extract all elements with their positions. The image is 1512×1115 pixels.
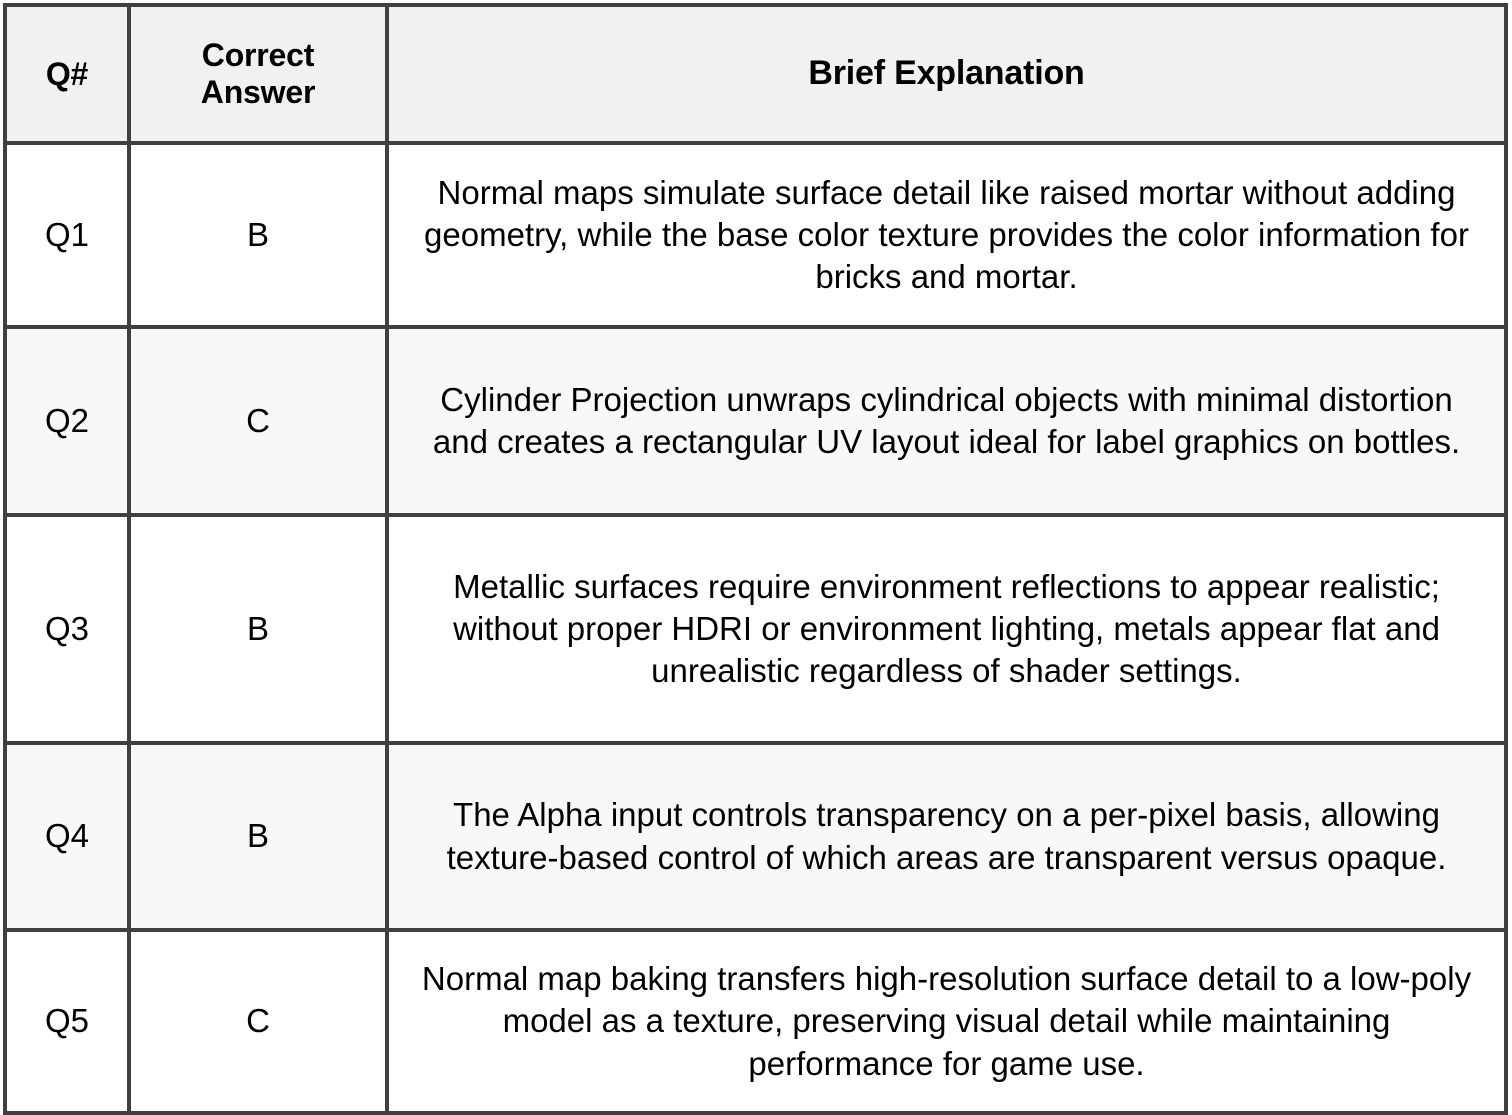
column-header-correct-answer-line1: Correct	[202, 37, 314, 73]
table-body: Q1 B Normal maps simulate surface detail…	[5, 143, 1506, 1113]
table-row: Q1 B Normal maps simulate surface detail…	[5, 143, 1506, 327]
cell-question-number: Q2	[5, 327, 129, 515]
column-header-question-number: Q#	[5, 5, 129, 143]
cell-question-number: Q3	[5, 515, 129, 743]
cell-question-number: Q4	[5, 743, 129, 930]
cell-correct-answer: C	[129, 930, 387, 1113]
cell-correct-answer: B	[129, 743, 387, 930]
page-root: Q# CorrectAnswer Brief Explanation Q1 B …	[0, 0, 1512, 1113]
cell-question-number: Q5	[5, 930, 129, 1113]
column-header-brief-explanation: Brief Explanation	[387, 5, 1506, 143]
column-header-correct-answer: CorrectAnswer	[129, 5, 387, 143]
cell-brief-explanation: Normal maps simulate surface detail like…	[387, 143, 1506, 327]
answer-key-table: Q# CorrectAnswer Brief Explanation Q1 B …	[3, 3, 1508, 1115]
cell-correct-answer: B	[129, 143, 387, 327]
cell-correct-answer: C	[129, 327, 387, 515]
table-header: Q# CorrectAnswer Brief Explanation	[5, 5, 1506, 143]
table-row: Q2 C Cylinder Projection unwraps cylindr…	[5, 327, 1506, 515]
cell-correct-answer: B	[129, 515, 387, 743]
cell-brief-explanation: Metallic surfaces require environment re…	[387, 515, 1506, 743]
table-row: Q5 C Normal map baking transfers high-re…	[5, 930, 1506, 1113]
cell-brief-explanation: Cylinder Projection unwraps cylindrical …	[387, 327, 1506, 515]
table-row: Q4 B The Alpha input controls transparen…	[5, 743, 1506, 930]
cell-question-number: Q1	[5, 143, 129, 327]
cell-brief-explanation: Normal map baking transfers high-resolut…	[387, 930, 1506, 1113]
column-header-correct-answer-line2: Answer	[201, 74, 315, 110]
cell-brief-explanation: The Alpha input controls transparency on…	[387, 743, 1506, 930]
header-row: Q# CorrectAnswer Brief Explanation	[5, 5, 1506, 143]
table-row: Q3 B Metallic surfaces require environme…	[5, 515, 1506, 743]
